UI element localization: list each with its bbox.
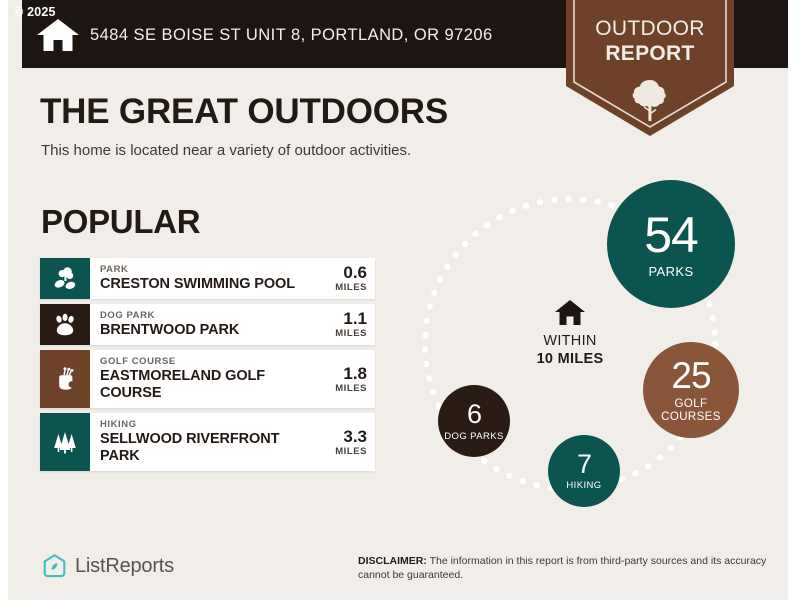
list-item-distance: 3.3 MILES [317,413,375,471]
bubble-dog-parks[interactable]: 6 DOG PARKS [438,385,510,457]
list-item[interactable]: PARK CRESTON SWIMMING POOL 0.6 MILES [40,258,375,299]
home-icon [36,18,80,52]
tree-icon [631,78,669,122]
list-item-distance-value: 3.3 [343,427,367,446]
copyright-text: © 2025 [14,5,56,19]
brand-name: ListReports [75,555,174,578]
list-item-icon-tile [40,413,90,471]
list-item-distance-value: 0.6 [343,263,367,282]
center-label-line2: 10 MILES [515,350,625,368]
list-item-text: PARK CRESTON SWIMMING POOL [90,258,317,299]
brand-logo[interactable]: ListReports [42,553,174,579]
list-item-icon-tile [40,304,90,345]
popular-list: PARK CRESTON SWIMMING POOL 0.6 MILES DOG… [40,258,375,476]
list-item-name: CRESTON SWIMMING POOL [100,276,313,293]
bubble-hiking-value: 7 [577,451,591,478]
list-item-distance-unit: MILES [335,446,367,458]
list-item-text: HIKING SELLWOOD RIVERFRONT PARK [90,413,317,471]
center-label: WITHIN 10 MILES [515,332,625,368]
list-item-text: GOLF COURSE EASTMORELAND GOLF COURSE [90,350,317,408]
list-item-category: DOG PARK [100,310,313,322]
list-item-icon-tile [40,350,90,408]
list-item[interactable]: HIKING SELLWOOD RIVERFRONT PARK 3.3 MILE… [40,413,375,471]
section-title-popular: POPULAR [41,203,200,241]
list-item-name: BRENTWOOD PARK [100,322,313,339]
bubble-golf-courses[interactable]: 25 GOLF COURSES [643,342,739,438]
list-item-distance-unit: MILES [335,328,367,340]
bubble-dog-parks-value: 6 [467,401,481,428]
bubble-hiking[interactable]: 7 HIKING [548,435,620,507]
list-item-distance: 1.8 MILES [317,350,375,408]
list-item-distance: 1.1 MILES [317,304,375,345]
list-item-distance-value: 1.1 [343,309,367,328]
list-item-text: DOG PARK BRENTWOOD PARK [90,304,317,345]
center-label-line1: WITHIN [515,332,625,350]
bubble-golf-courses-label: GOLF COURSES [643,398,739,424]
list-item[interactable]: GOLF COURSE EASTMORELAND GOLF COURSE 1.8… [40,350,375,408]
list-item-distance: 0.6 MILES [317,258,375,299]
page-subtitle: This home is located near a variety of o… [41,142,411,159]
list-item-distance-unit: MILES [335,383,367,395]
list-item[interactable]: DOG PARK BRENTWOOD PARK 1.1 MILES [40,304,375,345]
bubble-hiking-label: HIKING [566,481,601,491]
disclaimer-label: DISCLAIMER: [358,555,427,567]
list-item-distance-value: 1.8 [343,364,367,383]
paw-print-icon [52,312,78,338]
page-title: THE GREAT OUTDOORS [40,92,448,132]
list-item-name: EASTMORELAND GOLF COURSE [100,368,313,402]
list-item-distance-unit: MILES [335,282,367,294]
golf-bag-icon [52,366,78,392]
bubble-golf-courses-value: 25 [671,357,710,394]
bubble-parks-value: 54 [644,210,698,260]
list-item-icon-tile [40,258,90,299]
home-icon [554,299,586,326]
pine-trees-icon [52,429,78,455]
list-item-category: GOLF COURSE [100,356,313,368]
list-item-name: SELLWOOD RIVERFRONT PARK [100,431,313,465]
property-address: 5484 SE BOISE ST UNIT 8, PORTLAND, OR 97… [90,26,493,45]
list-item-category: HIKING [100,419,313,431]
park-tree-icon [52,266,78,292]
disclaimer: DISCLAIMER: The information in this repo… [358,554,778,582]
bubble-parks-label: PARKS [648,265,693,278]
listreports-logo-icon [42,553,67,579]
amenities-bubble-chart: WITHIN 10 MILES 54 PARKS 25 GOLF COURSES… [420,172,780,512]
list-item-category: PARK [100,264,313,276]
outdoor-report-page: © 2025 5484 SE BOISE ST UNIT 8, PORTLAND… [0,0,800,600]
bubble-parks[interactable]: 54 PARKS [607,180,735,308]
bubble-dog-parks-label: DOG PARKS [444,431,503,442]
